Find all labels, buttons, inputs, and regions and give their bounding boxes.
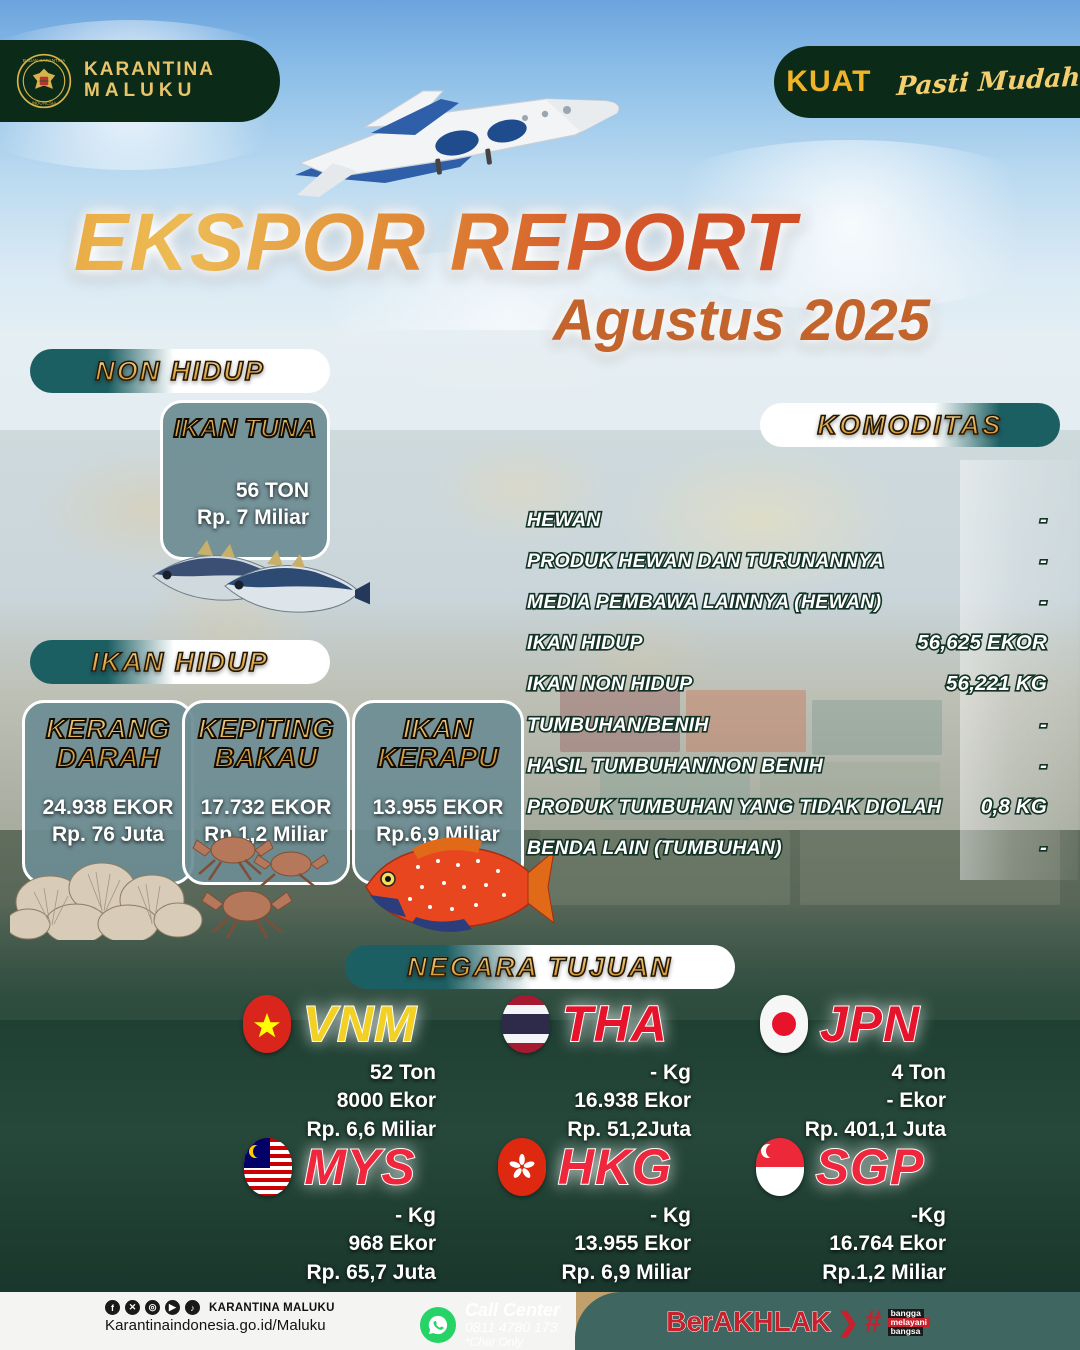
berakhlak-label: BerAKHLAK (666, 1306, 831, 1338)
komoditas-label: HEWAN (527, 509, 601, 532)
card-quantity: 17.732 EKOR (185, 795, 347, 822)
call-center-label: Call Center (465, 1300, 560, 1320)
country-code: VNM (303, 995, 417, 1053)
komoditas-value: 56,625 EKOR (917, 631, 1047, 655)
komoditas-label: MEDIA PEMBAWA LAINNYA (HEWAN) (527, 591, 881, 614)
brand-line-1: KARANTINA (84, 60, 215, 81)
card-title: IKAN KERAPU (355, 703, 521, 772)
table-row: MEDIA PEMBAWA LAINNYA (HEWAN) - (527, 590, 1047, 631)
komoditas-label: HASIL TUMBUHAN/NON BENIH (527, 755, 823, 778)
country-value: Rp. 65,7 Juta (210, 1259, 436, 1287)
mud-crab-image (185, 830, 350, 940)
footer-bar: f ✕ ◎ ▶ ♪ KARANTINA MALUKU Karantinaindo… (0, 1292, 1080, 1350)
call-center-note: *Chat Only (465, 1336, 560, 1349)
call-center-text: Call Center 0811 4780 173 *Chat Only (465, 1300, 560, 1349)
card-quantity: 13.955 EKOR (355, 795, 521, 822)
table-row: TUMBUHAN/BENIH - (527, 713, 1047, 754)
country-stats: - Kg 13.955 Ekor Rp. 6,9 Miliar (465, 1202, 705, 1287)
country-code: MYS (304, 1138, 415, 1196)
x-twitter-icon[interactable]: ✕ (125, 1300, 140, 1315)
page-subtitle: Agustus 2025 (0, 287, 930, 354)
table-row: BENDA LAIN (TUMBUHAN) - (527, 836, 1047, 877)
country-block-mys: MYS - Kg 968 Ekor Rp. 65,7 Juta (210, 1138, 450, 1287)
svg-text:INDONESIA: INDONESIA (32, 101, 57, 106)
bangga-melayani-bangsa-logo: bangga melayani bangsa (888, 1309, 930, 1336)
section-label: NEGARA TUJUAN (407, 952, 673, 983)
country-code: SGP (816, 1138, 925, 1196)
section-pill-ikan-hidup: IKAN HIDUP (30, 640, 330, 684)
section-label: IKAN HIDUP (91, 647, 269, 678)
brand-line-2: MALUKU (84, 81, 215, 102)
country-header: SGP (720, 1138, 960, 1196)
country-block-vnm: VNM 52 Ton 8000 Ekor Rp. 6,6 Miliar (210, 995, 450, 1144)
country-value: Rp.1,2 Miliar (720, 1259, 946, 1287)
card-title: KERANG DARAH (25, 703, 191, 772)
country-weight: - Kg (465, 1202, 691, 1230)
country-header: MYS (210, 1138, 450, 1196)
country-block-sgp: SGP -Kg 16.764 Ekor Rp.1,2 Miliar (720, 1138, 960, 1287)
country-block-jpn: JPN 4 Ton - Ekor Rp. 401,1 Juta (720, 995, 960, 1144)
country-header: VNM (210, 995, 450, 1053)
komoditas-value: 56,221 KG (946, 672, 1047, 696)
card-title-line-2: BAKAU (185, 744, 347, 773)
card-title-line-2: KERAPU (355, 744, 521, 773)
komoditas-label: IKAN HIDUP (527, 632, 643, 655)
country-stats: 52 Ton 8000 Ekor Rp. 6,6 Miliar (210, 1059, 450, 1144)
card-title-line-2: DARAH (25, 744, 191, 773)
vietnam-flag-icon (243, 995, 291, 1053)
website-url[interactable]: Karantinaindonesia.go.id/Maluku (105, 1317, 335, 1334)
country-code: HKG (558, 1138, 672, 1196)
instagram-icon[interactable]: ◎ (145, 1300, 160, 1315)
tagline-label: Pasti Mudah! (896, 62, 1080, 102)
komoditas-label: PRODUK HEWAN DAN TURUNANNYA (527, 550, 884, 573)
tuna-fish-image (135, 520, 370, 625)
call-center-block: Call Center 0811 4780 173 *Chat Only (420, 1300, 560, 1349)
berakhlak-brand: BerAKHLAK ❯ # bangga melayani bangsa (666, 1305, 930, 1339)
tiktok-icon[interactable]: ♪ (185, 1300, 200, 1315)
country-value: Rp. 6,9 Miliar (465, 1259, 691, 1287)
table-row: HASIL TUMBUHAN/NON BENIH - (527, 754, 1047, 795)
page-title: EKSPOR REPORT (0, 196, 870, 290)
country-stats: - Kg 968 Ekor Rp. 65,7 Juta (210, 1202, 450, 1287)
country-quantity: 16.938 Ekor (465, 1087, 691, 1115)
country-quantity: 968 Ekor (210, 1230, 436, 1258)
country-code: THA (562, 995, 668, 1053)
komoditas-label: TUMBUHAN/BENIH (527, 714, 709, 737)
thailand-flag-icon (502, 995, 550, 1053)
country-header: JPN (720, 995, 960, 1053)
country-weight: 52 Ton (210, 1059, 436, 1087)
card-title-line-1: IKAN (355, 715, 521, 744)
country-block-tha: THA - Kg 16.938 Ekor Rp. 51,2Juta (465, 995, 705, 1144)
section-pill-komoditas: KOMODITAS (760, 403, 1060, 447)
country-block-hkg: HKG - Kg 13.955 Ekor Rp. 6,9 Miliar (465, 1138, 705, 1287)
komoditas-label: BENDA LAIN (TUMBUHAN) (527, 837, 782, 860)
social-icon-row: f ✕ ◎ ▶ ♪ KARANTINA MALUKU (105, 1300, 335, 1315)
malaysia-flag-icon (244, 1138, 292, 1196)
footer-social-block: f ✕ ◎ ▶ ♪ KARANTINA MALUKU Karantinaindo… (105, 1300, 335, 1334)
whatsapp-icon[interactable] (420, 1307, 456, 1343)
country-weight: - Kg (465, 1059, 691, 1087)
komoditas-value: 0,8 KG (981, 795, 1047, 819)
card-title-line-1: KEPITING (185, 715, 347, 744)
table-row: PRODUK TUMBUHAN YANG TIDAK DIOLAH 0,8 KG (527, 795, 1047, 836)
call-center-number: 0811 4780 173 (465, 1320, 560, 1336)
country-header: THA (465, 995, 705, 1053)
komoditas-value: - (1040, 590, 1047, 614)
slogan-header: KUAT Pasti Mudah! (774, 46, 1080, 118)
youtube-icon[interactable]: ▶ (165, 1300, 180, 1315)
komoditas-value: - (1040, 549, 1047, 573)
cockle-shell-image (10, 840, 205, 940)
country-header: HKG (465, 1138, 705, 1196)
komoditas-label: IKAN NON HIDUP (527, 673, 692, 696)
country-quantity: 8000 Ekor (210, 1087, 436, 1115)
social-handle: KARANTINA MALUKU (209, 1302, 335, 1314)
facebook-icon[interactable]: f (105, 1300, 120, 1315)
chevron-right-icon: ❯ (837, 1307, 859, 1338)
table-row: IKAN NON HIDUP 56,221 KG (527, 672, 1047, 713)
country-code: JPN (820, 995, 920, 1053)
country-stats: 4 Ton - Ekor Rp. 401,1 Juta (720, 1059, 960, 1144)
card-quantity: 24.938 EKOR (25, 795, 191, 822)
komoditas-value: - (1040, 836, 1047, 860)
table-row: HEWAN - (527, 508, 1047, 549)
singapore-flag-icon (756, 1138, 804, 1196)
section-label: NON HIDUP (95, 356, 265, 387)
country-weight: -Kg (720, 1202, 946, 1230)
card-title: KEPITING BAKAU (185, 703, 347, 772)
country-stats: -Kg 16.764 Ekor Rp.1,2 Miliar (720, 1202, 960, 1287)
card-title-line-1: KERANG (25, 715, 191, 744)
country-stats: - Kg 16.938 Ekor Rp. 51,2Juta (465, 1059, 705, 1144)
table-row: PRODUK HEWAN DAN TURUNANNYA - (527, 549, 1047, 590)
country-quantity: 13.955 Ekor (465, 1230, 691, 1258)
card-quantity: 56 TON (163, 478, 309, 505)
section-label: KOMODITAS (817, 410, 1003, 441)
section-pill-negara-tujuan: NEGARA TUJUAN (345, 945, 735, 989)
country-weight: - Kg (210, 1202, 436, 1230)
country-quantity: - Ekor (720, 1087, 946, 1115)
komoditas-table: HEWAN - PRODUK HEWAN DAN TURUNANNYA - ME… (527, 508, 1047, 877)
japan-flag-icon (760, 995, 808, 1053)
hashtag-icon: # (865, 1305, 882, 1339)
garuda-seal-icon: BADAN KARANTINA INDONESIA (16, 53, 72, 109)
brand-header: BADAN KARANTINA INDONESIA KARANTINA MALU… (0, 40, 280, 122)
section-pill-non-hidup: NON HIDUP (30, 349, 330, 393)
svg-text:BADAN KARANTINA: BADAN KARANTINA (23, 58, 65, 63)
hongkong-flag-icon (498, 1138, 546, 1196)
komoditas-label: PRODUK TUMBUHAN YANG TIDAK DIOLAH (527, 796, 941, 819)
brand-name: KARANTINA MALUKU (84, 60, 215, 101)
infographic-canvas: BADAN KARANTINA INDONESIA KARANTINA MALU… (0, 0, 1080, 1350)
komoditas-value: - (1040, 508, 1047, 532)
country-weight: 4 Ton (720, 1059, 946, 1087)
country-quantity: 16.764 Ekor (720, 1230, 946, 1258)
table-row: IKAN HIDUP 56,625 EKOR (527, 631, 1047, 672)
kuat-label: KUAT (786, 65, 871, 99)
bangga-line-3: bangsa (888, 1327, 924, 1336)
card-title: IKAN TUNA (163, 403, 327, 442)
komoditas-value: - (1040, 713, 1047, 737)
komoditas-value: - (1040, 754, 1047, 778)
